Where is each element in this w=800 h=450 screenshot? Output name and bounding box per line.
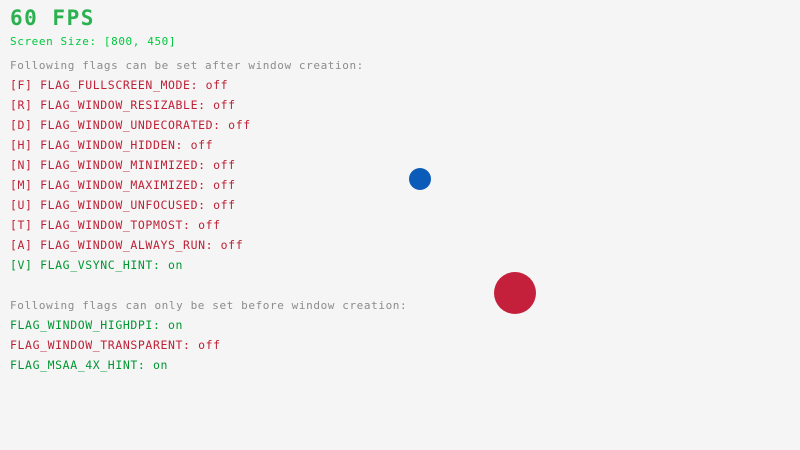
flag-row-window-resizable[interactable]: [R] FLAG_WINDOW_RESIZABLE: off [10,100,236,112]
flag-row-window-always-run[interactable]: [A] FLAG_WINDOW_ALWAYS_RUN: off [10,240,243,252]
flag-row-msaa-4x-hint: FLAG_MSAA_4X_HINT: on [10,360,168,372]
flag-row-vsync-hint[interactable]: [V] FLAG_VSYNC_HINT: on [10,260,183,272]
creation-flags-heading: Following flags can only be set before w… [10,300,407,311]
flag-row-window-highdpi: FLAG_WINDOW_HIGHDPI: on [10,320,183,332]
blue-circle [409,168,431,190]
raylib-window-flags-demo: 60 FPS Screen Size: [800, 450] Following… [0,0,800,450]
fps-counter: 60 FPS [10,8,95,29]
flag-row-window-topmost[interactable]: [T] FLAG_WINDOW_TOPMOST: off [10,220,221,232]
red-circle [494,272,536,314]
runtime-flags-heading: Following flags can be set after window … [10,60,364,71]
flag-row-window-undecorated[interactable]: [D] FLAG_WINDOW_UNDECORATED: off [10,120,251,132]
flag-row-window-unfocused[interactable]: [U] FLAG_WINDOW_UNFOCUSED: off [10,200,236,212]
flag-row-window-maximized[interactable]: [M] FLAG_WINDOW_MAXIMIZED: off [10,180,236,192]
screen-size-label: Screen Size: [800, 450] [10,36,176,47]
flag-row-window-minimized[interactable]: [N] FLAG_WINDOW_MINIMIZED: off [10,160,236,172]
flag-row-fullscreen-mode[interactable]: [F] FLAG_FULLSCREEN_MODE: off [10,80,228,92]
flag-row-window-transparent: FLAG_WINDOW_TRANSPARENT: off [10,340,221,352]
flag-row-window-hidden[interactable]: [H] FLAG_WINDOW_HIDDEN: off [10,140,213,152]
